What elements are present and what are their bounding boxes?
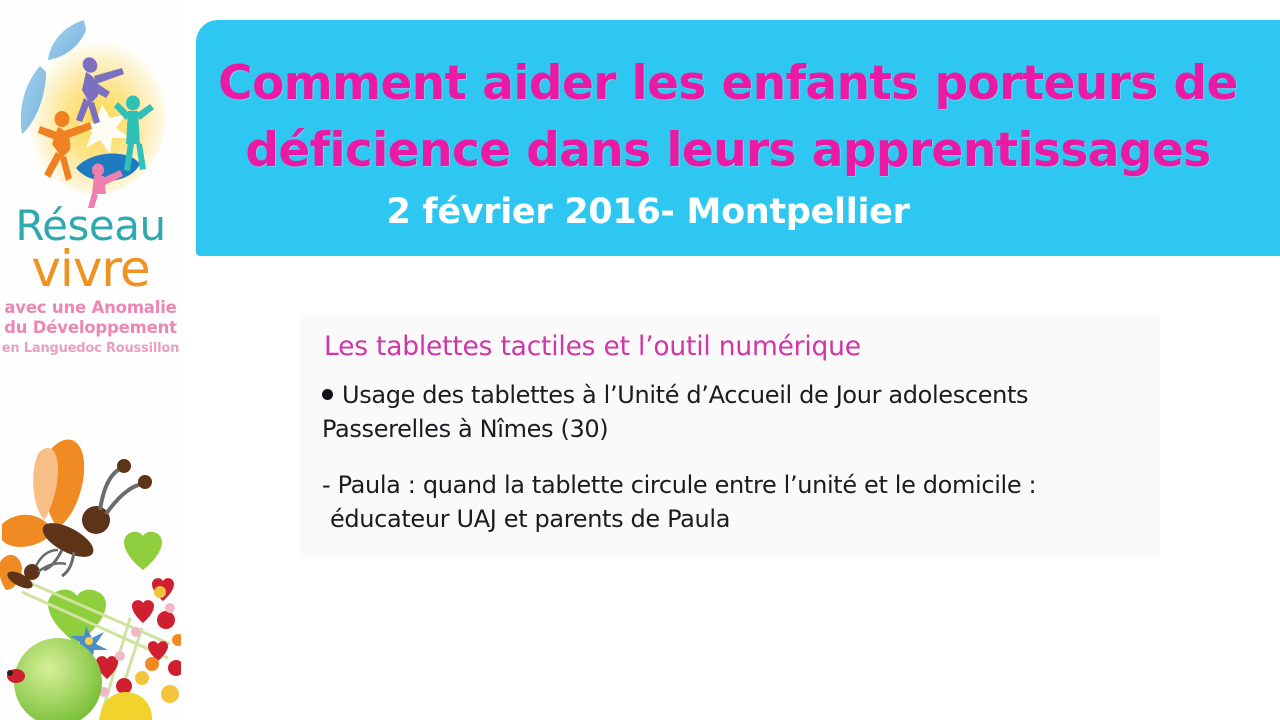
logo-wordmark: Réseau vivre avec une Anomalie du Dévelo… [0, 204, 181, 357]
logo-line-region: en Languedoc Roussillon [0, 340, 181, 357]
banner-title-line-2: déficience dans leurs apprentissages [196, 117, 1280, 184]
logo-line-anomalie: avec une Anomalie [0, 298, 181, 318]
bullet-item-line-1: Usage des tablettes à l’Unité d’Accueil … [342, 381, 1028, 409]
butterfly-and-flowers-illustration [0, 432, 181, 720]
logo-line-developpement: du Développement [0, 318, 181, 338]
bullet-item: Usage des tablettes à l’Unité d’Accueil … [322, 378, 1150, 446]
detail-paragraph: - Paula : quand la tablette circule entr… [322, 468, 1150, 536]
detail-line-1: - Paula : quand la tablette circule entr… [322, 471, 1036, 499]
banner-title-line-1: Comment aider les enfants porteurs de [196, 50, 1280, 117]
sun-with-figures-emblem [6, 18, 178, 208]
slide-content: Les tablettes tactiles et l’outil numéri… [300, 316, 1160, 556]
bullet-dot-icon [322, 389, 333, 400]
content-heading: Les tablettes tactiles et l’outil numéri… [324, 330, 1150, 364]
banner-subtitle: 2 février 2016- Montpellier [196, 186, 1280, 238]
detail-line-2: éducateur UAJ et parents de Paula [322, 505, 730, 533]
bullet-item-line-2: Passerelles à Nîmes (30) [322, 415, 608, 443]
logo-line-vivre: vivre [0, 244, 181, 294]
title-banner: Comment aider les enfants porteurs de dé… [196, 20, 1280, 256]
sidebar: Réseau vivre avec une Anomalie du Dévelo… [0, 0, 181, 720]
presentation-slide: Réseau vivre avec une Anomalie du Dévelo… [0, 0, 1280, 720]
